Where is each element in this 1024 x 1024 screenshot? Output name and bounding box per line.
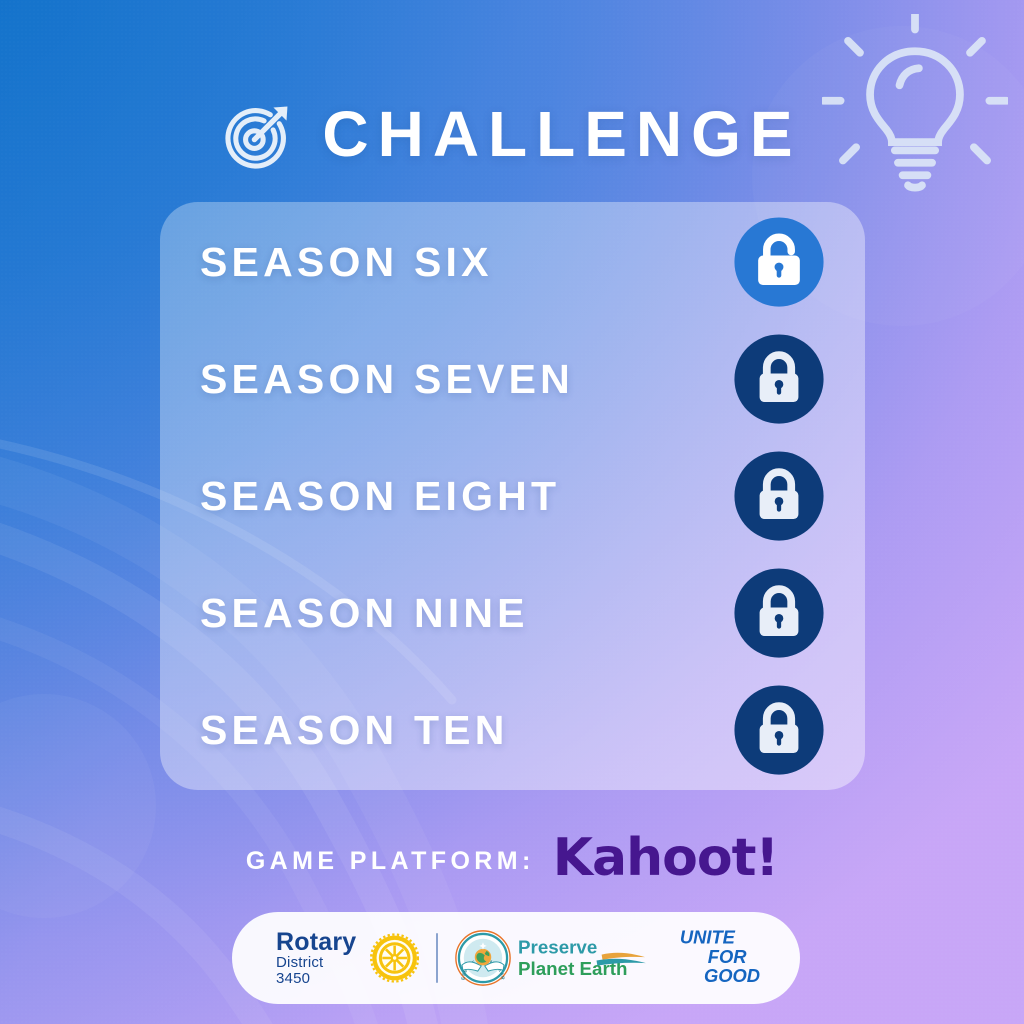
season-row[interactable]: SEASON TEN bbox=[200, 672, 825, 789]
unite-for-good-wordmark: UNITE FOR GOOD bbox=[646, 927, 762, 985]
season-label: SEASON SIX bbox=[200, 242, 493, 283]
unlock-open-icon[interactable] bbox=[733, 216, 825, 308]
season-label: SEASON TEN bbox=[200, 710, 509, 751]
rotary-name: Rotary bbox=[276, 929, 361, 956]
season-row[interactable]: SEASON SIX bbox=[200, 204, 825, 321]
unite-for-good-logo: UNITE FOR GOOD bbox=[646, 927, 762, 990]
target-dart-icon bbox=[222, 98, 296, 172]
rotary-text-block: Rotary District 3450 bbox=[276, 929, 361, 987]
page-title: CHALLENGE bbox=[322, 102, 801, 166]
preserve-planet-earth-emblem-icon: PRESERVE PLANET EARTH bbox=[455, 930, 511, 986]
rotary-logo: Rotary District 3450 bbox=[276, 929, 419, 987]
sponsor-bar: Rotary District 3450 bbox=[232, 912, 800, 1004]
rotary-wheel-icon bbox=[370, 933, 419, 983]
svg-text:UNITE: UNITE bbox=[680, 927, 736, 947]
lock-closed-icon[interactable] bbox=[733, 333, 825, 425]
season-row[interactable]: SEASON NINE bbox=[200, 555, 825, 672]
lightbulb-idea-icon bbox=[822, 14, 1008, 200]
svg-text:Preserve: Preserve bbox=[518, 937, 597, 958]
lock-closed-icon[interactable] bbox=[733, 450, 825, 542]
season-label: SEASON NINE bbox=[200, 593, 529, 634]
svg-text:GOOD: GOOD bbox=[704, 965, 760, 985]
season-row[interactable]: SEASON EIGHT bbox=[200, 438, 825, 555]
sponsor-divider bbox=[436, 933, 438, 983]
svg-text:FOR: FOR bbox=[708, 945, 747, 966]
season-row[interactable]: SEASON SEVEN bbox=[200, 321, 825, 438]
kahoot-logo: Kahoot! bbox=[553, 832, 778, 884]
season-label: SEASON SEVEN bbox=[200, 359, 574, 400]
game-platform-label: GAME PLATFORM: bbox=[246, 849, 535, 874]
preserve-planet-earth-wordmark: Preserve Planet Earth bbox=[518, 934, 646, 982]
game-platform-line: GAME PLATFORM: Kahoot! bbox=[0, 833, 1024, 889]
rotary-district: District 3450 bbox=[276, 955, 361, 987]
lock-closed-icon[interactable] bbox=[733, 684, 825, 776]
preserve-planet-earth-logo: PRESERVE PLANET EARTH Preserve Planet Ea… bbox=[455, 930, 646, 986]
seasons-card: SEASON SIX SEASON SEVEN SEASON EIGHT bbox=[160, 202, 865, 790]
lock-closed-icon[interactable] bbox=[733, 567, 825, 659]
season-label: SEASON EIGHT bbox=[200, 476, 560, 517]
